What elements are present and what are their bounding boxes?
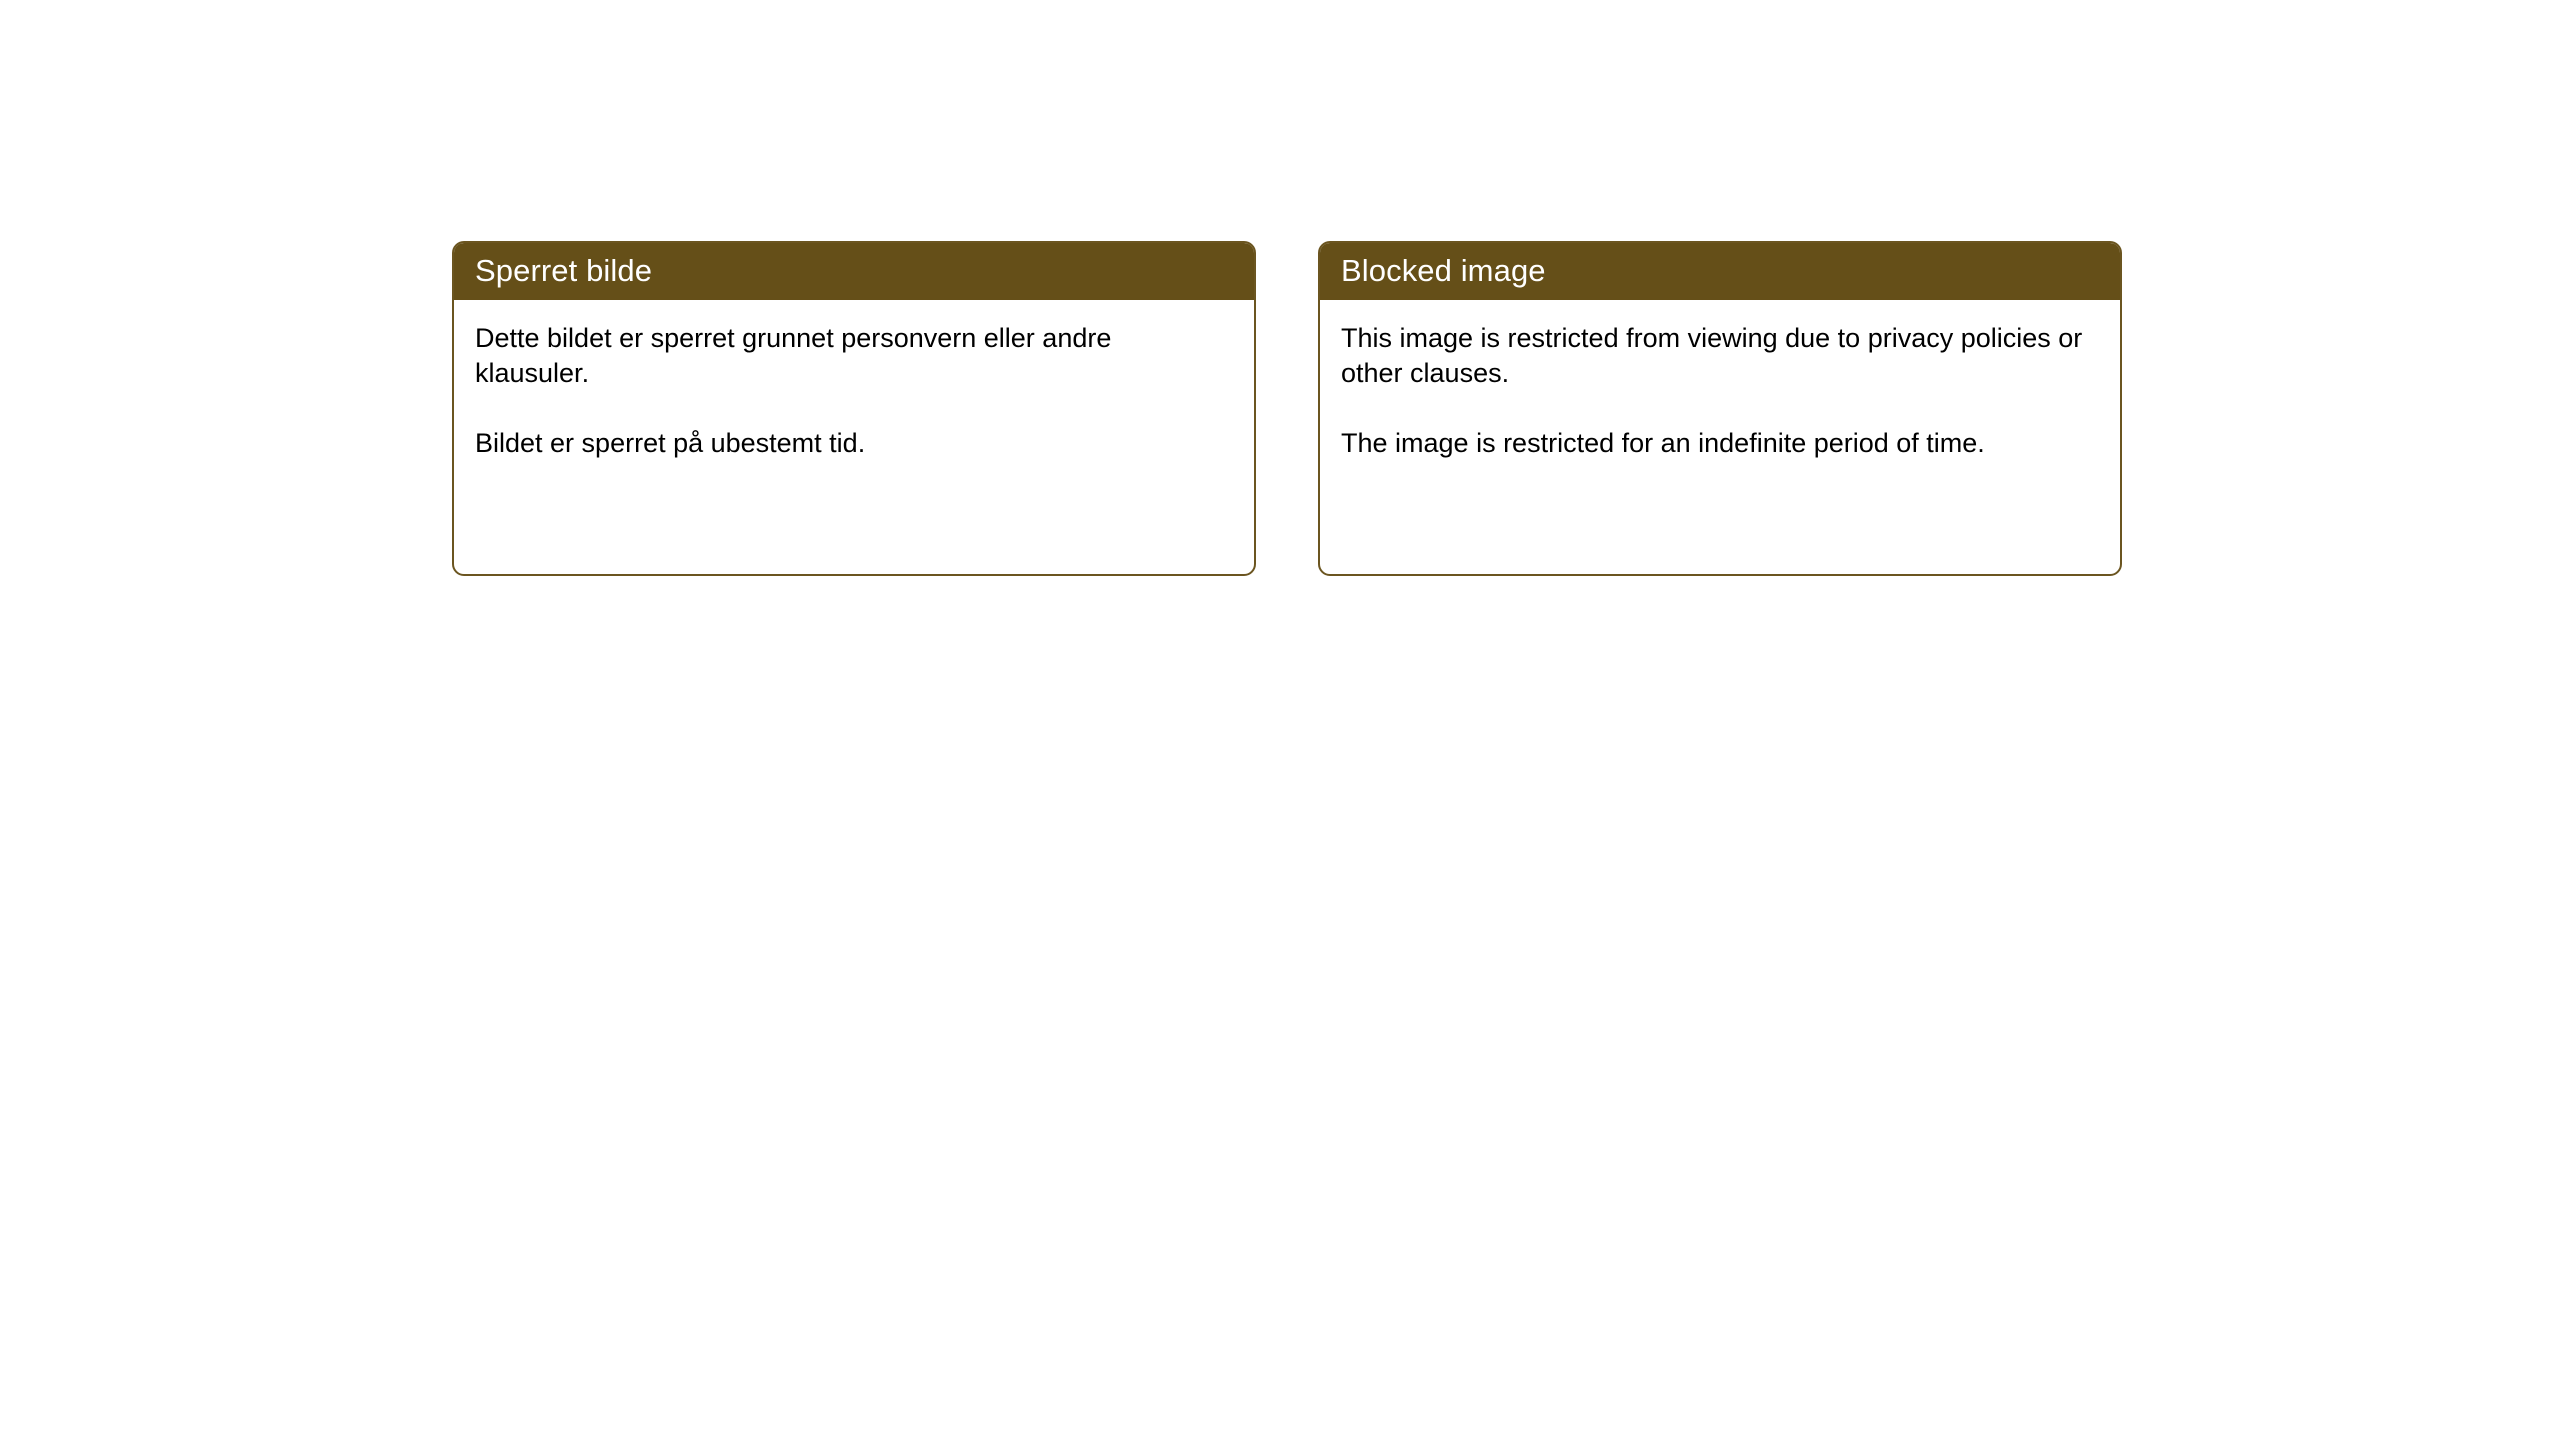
blocked-image-notice-en: Blocked image This image is restricted f… [1318, 241, 2122, 576]
notice-paragraph: Bildet er sperret på ubestemt tid. [475, 426, 1230, 461]
notice-title-en: Blocked image [1341, 253, 1546, 289]
notice-body-en: This image is restricted from viewing du… [1320, 300, 2120, 461]
page-canvas: Sperret bilde Dette bildet er sperret gr… [0, 0, 2560, 1440]
notice-paragraph: The image is restricted for an indefinit… [1341, 426, 2096, 461]
notice-header-en: Blocked image [1318, 241, 2122, 300]
notice-body-no: Dette bildet er sperret grunnet personve… [454, 300, 1254, 461]
blocked-image-notice-no: Sperret bilde Dette bildet er sperret gr… [452, 241, 1256, 576]
notice-title-no: Sperret bilde [475, 253, 652, 289]
notice-paragraph: Dette bildet er sperret grunnet personve… [475, 321, 1230, 391]
notice-header-no: Sperret bilde [452, 241, 1256, 300]
notice-paragraph: This image is restricted from viewing du… [1341, 321, 2096, 391]
